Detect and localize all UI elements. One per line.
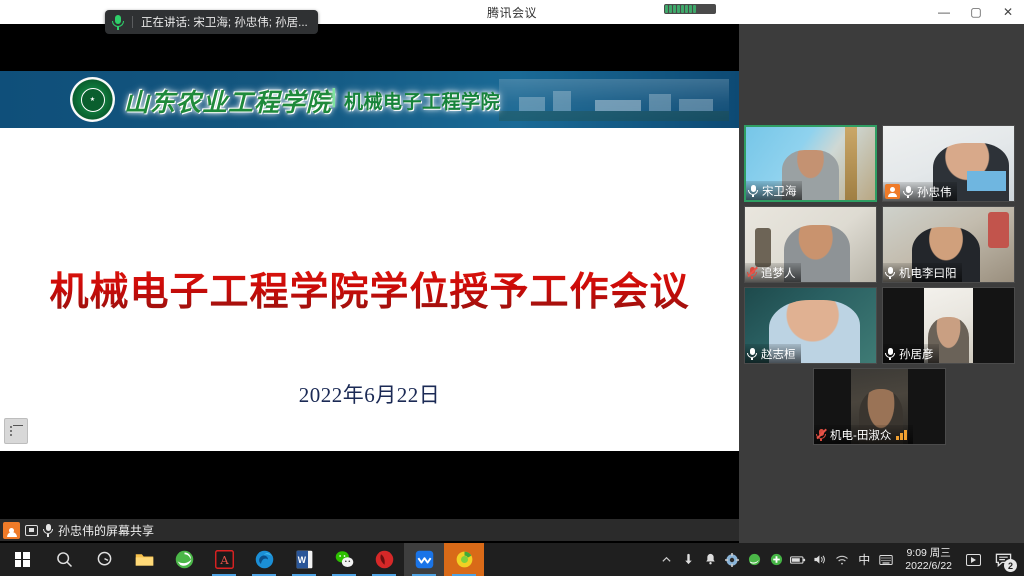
- windows-taskbar: A W: [0, 543, 1024, 576]
- host-badge-icon: [3, 522, 20, 539]
- list-menu-icon[interactable]: [4, 418, 28, 444]
- participant-name: 机电-田淑众: [830, 427, 891, 443]
- ime-keyboard-icon[interactable]: [875, 543, 897, 576]
- banner-separator: |: [331, 86, 337, 109]
- clock-time: 9:09 周三: [905, 547, 952, 560]
- windows-start-icon[interactable]: [0, 543, 44, 576]
- speaking-indicator[interactable]: 正在讲话: 宋卫海; 孙忠伟; 孙居...: [105, 10, 318, 34]
- participant-name: 孙忠伟: [917, 184, 952, 200]
- search-icon[interactable]: [44, 543, 84, 576]
- microsoft-word-icon[interactable]: W: [284, 543, 324, 576]
- microphone-icon: [885, 266, 895, 279]
- campus-skyline-image: [499, 79, 729, 121]
- participant-tile[interactable]: 赵志桓: [744, 287, 877, 364]
- participant-name: 宋卫海: [762, 183, 797, 199]
- slide-banner: ★ 山东农业工程学院 | 机械电子工程学院: [0, 71, 739, 128]
- network-signal-icon: [896, 430, 908, 440]
- browser-icon[interactable]: [743, 543, 765, 576]
- microphone-icon: [903, 185, 913, 198]
- clock-date: 2022/6/22: [905, 560, 952, 573]
- microphone-icon: [747, 347, 757, 360]
- adobe-reader-icon[interactable]: A: [204, 543, 244, 576]
- cortana-icon[interactable]: [84, 543, 124, 576]
- microsoft-edge-icon[interactable]: [244, 543, 284, 576]
- volume-icon[interactable]: [809, 543, 831, 576]
- close-button[interactable]: ✕: [992, 0, 1024, 24]
- svg-text:A: A: [219, 553, 229, 567]
- internet-explorer-icon[interactable]: [164, 543, 204, 576]
- svg-text:W: W: [297, 555, 306, 565]
- presentation-slide: ★ 山东农业工程学院 | 机械电子工程学院 机械电子工程学院学位授予工作会议 2…: [0, 71, 739, 451]
- microphone-icon: [748, 184, 758, 197]
- participant-tile[interactable]: 孙忠伟: [882, 125, 1015, 202]
- slide-title: 机械电子工程学院学位授予工作会议: [0, 261, 739, 317]
- signal-strength-icon: [664, 4, 716, 14]
- participant-tile[interactable]: 宋卫海: [744, 125, 877, 202]
- taskbar-clock[interactable]: 9:09 周三 2022/6/22: [897, 547, 960, 573]
- notification-count: 2: [1004, 559, 1017, 572]
- security-app-icon[interactable]: [444, 543, 484, 576]
- host-badge-icon: [885, 184, 900, 199]
- screen-share-status-bar: 孙忠伟的屏幕共享: [0, 519, 739, 541]
- battery-icon[interactable]: [787, 543, 809, 576]
- microphone-icon: [43, 524, 53, 537]
- participant-tile[interactable]: 机电-田淑众: [813, 368, 946, 445]
- bell-icon[interactable]: [699, 543, 721, 576]
- system-tray: 中 9:09 周三 2022/6/22 2: [655, 543, 1024, 576]
- university-seal-icon: ★: [70, 77, 115, 122]
- screen-share-icon: [25, 525, 38, 536]
- active-microphone-icon: [111, 14, 125, 30]
- participant-tile[interactable]: 孙居彦: [882, 287, 1015, 364]
- participant-namebar: 赵志桓: [745, 344, 801, 363]
- participant-tile[interactable]: 机电李曰阳: [882, 206, 1015, 283]
- participant-name: 追梦人: [761, 265, 796, 281]
- wechat-icon[interactable]: [324, 543, 364, 576]
- microphone-muted-icon: [816, 428, 826, 441]
- participant-namebar: 宋卫海: [746, 181, 802, 200]
- participant-tile[interactable]: 追梦人: [744, 206, 877, 283]
- screen-share-label: 孙忠伟的屏幕共享: [58, 522, 154, 539]
- microphone-icon: [885, 347, 895, 360]
- red-app-icon[interactable]: [364, 543, 404, 576]
- onedrive-sync-icon[interactable]: [677, 543, 699, 576]
- participant-namebar: 追梦人: [745, 263, 801, 282]
- slide-date: 2022年6月22日: [0, 379, 739, 409]
- participant-namebar: 孙忠伟: [883, 182, 957, 201]
- screen: 腾讯会议 — ▢ ✕ 正在讲话: 宋卫海; 孙忠伟; 孙居... ★: [0, 0, 1024, 576]
- speaking-names: 正在讲话: 宋卫海; 孙忠伟; 孙居...: [141, 14, 308, 30]
- chevron-up-icon[interactable]: [655, 543, 677, 576]
- file-explorer-icon[interactable]: [124, 543, 164, 576]
- minimize-button[interactable]: —: [928, 0, 960, 24]
- maximize-button[interactable]: ▢: [960, 0, 992, 24]
- divider: [132, 16, 133, 28]
- participant-video-sidebar: 宋卫海 孙忠伟 追梦人: [739, 24, 1024, 543]
- update-icon[interactable]: [765, 543, 787, 576]
- participant-namebar: 机电-田淑众: [814, 425, 913, 444]
- window-controls: — ▢ ✕: [928, 0, 1024, 24]
- ime-chinese-icon[interactable]: 中: [853, 543, 875, 576]
- show-desktop-icon[interactable]: [960, 543, 986, 576]
- university-name: 山东农业工程学院: [124, 83, 332, 119]
- participant-name: 赵志桓: [761, 346, 796, 362]
- school-name: 机械电子工程学院: [344, 87, 500, 114]
- participant-name: 机电李曰阳: [899, 265, 957, 281]
- action-center-icon[interactable]: 2: [986, 543, 1020, 576]
- participant-namebar: 机电李曰阳: [883, 263, 962, 282]
- shared-screen-area[interactable]: ★ 山东农业工程学院 | 机械电子工程学院 机械电子工程学院学位授予工作会议 2…: [0, 24, 739, 519]
- wifi-icon[interactable]: [831, 543, 853, 576]
- settings-gear-icon[interactable]: [721, 543, 743, 576]
- tencent-meeting-icon[interactable]: [404, 543, 444, 576]
- microphone-muted-icon: [747, 266, 757, 279]
- window-title: 腾讯会议: [487, 4, 537, 21]
- participant-namebar: 孙居彦: [883, 344, 939, 363]
- participant-name: 孙居彦: [899, 346, 934, 362]
